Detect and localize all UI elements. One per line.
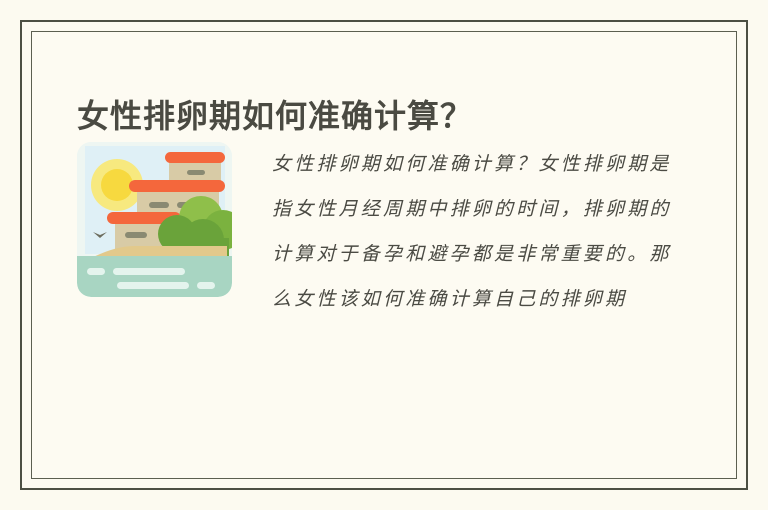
water-line-4 (197, 282, 215, 289)
water-line-3 (117, 282, 189, 289)
pavilion-top-window (187, 170, 205, 175)
illustration-svg (77, 142, 232, 297)
article-card: 女性排卵期如何准确计算？ (0, 0, 768, 510)
water-area (77, 256, 232, 297)
outer-border-frame: 女性排卵期如何准确计算？ (20, 20, 748, 490)
pavilion-low-window (125, 232, 147, 238)
page-title: 女性排卵期如何准确计算？ (77, 95, 473, 137)
water-line-1 (87, 268, 105, 275)
water-line-2 (113, 268, 185, 275)
content-row: 女性排卵期如何准确计算？女性排卵期是指女性月经周期中排卵的时间，排卵期的计算对于… (77, 142, 706, 322)
article-body: 女性排卵期如何准确计算？女性排卵期是指女性月经周期中排卵的时间，排卵期的计算对于… (272, 142, 692, 322)
pavilion-mid-window-left (149, 202, 169, 208)
inner-border-frame: 女性排卵期如何准确计算？ (31, 31, 737, 479)
temple-landscape-illustration (77, 142, 232, 297)
pavilion-mid-roof (129, 180, 225, 192)
pavilion-top-roof (165, 152, 225, 163)
sun-core (101, 169, 133, 201)
